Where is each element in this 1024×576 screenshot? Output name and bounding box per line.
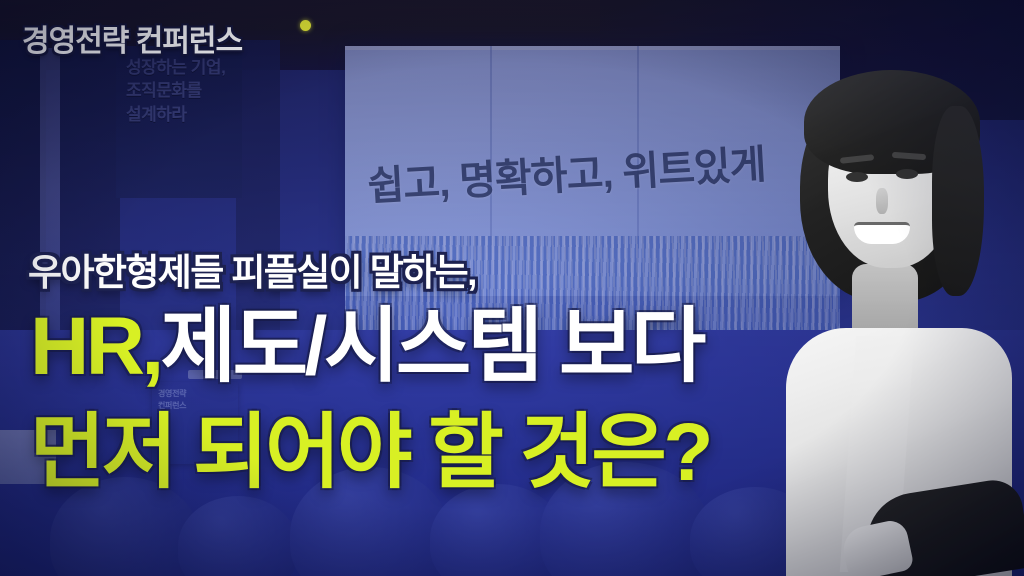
headline-line-1: HR,제도/시스템 보다 [30,306,703,388]
presenter-eye-left [846,172,868,182]
headline-accent-hr: HR, [30,301,161,392]
headline-line-2: 먼저 되어야 할 것은? [30,412,710,494]
presenter-smile [854,222,910,244]
presenter-portrait [756,36,1024,576]
presenter-eye-right [896,169,918,179]
presenter-hair-side [932,106,984,296]
conference-brand-title: 경영전략 컨퍼런스 [22,16,242,60]
kicker-text: 우아한형제들 피플실이 말하는, [28,242,476,296]
accent-dot-icon [300,20,311,31]
headline-line-1-rest: 제도/시스템 보다 [161,301,703,392]
video-thumbnail: 성장하는 기업, 조직문화를 설계하라 쉽고, 명확하고, 위트있게 경영전략 … [0,0,1024,576]
headline-line-2-text: 먼저 되어야 할 것은? [30,407,710,498]
presenter-nose [876,188,888,214]
